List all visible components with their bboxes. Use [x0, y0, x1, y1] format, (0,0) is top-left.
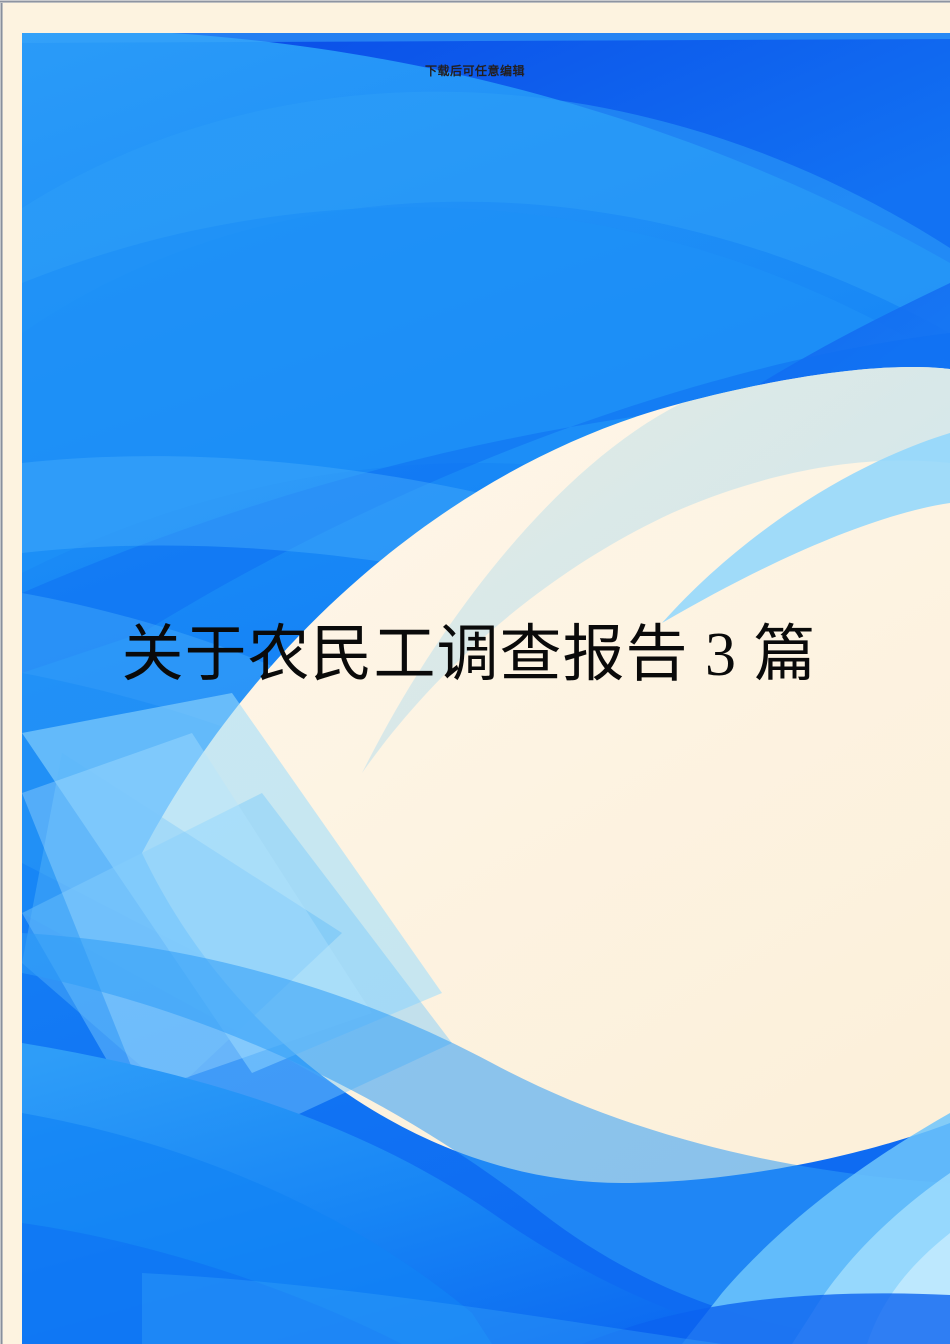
cover-page: 下载后可任意编辑 关于农民工调查报告 3 篇: [0, 0, 950, 1344]
page-border-left: [0, 0, 3, 1344]
download-note: 下载后可任意编辑: [0, 62, 950, 80]
page-border-top: [0, 0, 950, 3]
cover-artwork: [22, 33, 950, 1344]
